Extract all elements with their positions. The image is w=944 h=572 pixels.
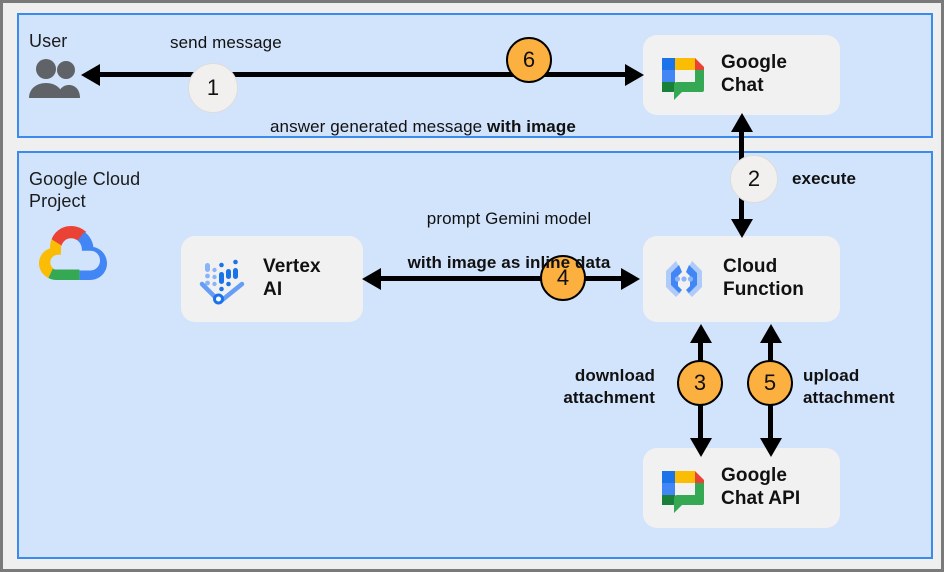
node-label-google-chat-api: Google Chat API — [721, 465, 800, 511]
step-badge-1: 1 — [188, 63, 238, 113]
user-panel-title: User — [29, 31, 67, 53]
node-google-chat[interactable]: Google Chat — [643, 35, 840, 115]
node-label-google-chat: Google Chat — [721, 52, 787, 98]
step-badge-2: 2 — [730, 155, 778, 203]
edge-label-upload-attachment: upload attachment — [803, 365, 944, 409]
edge-label-execute: execute — [792, 168, 856, 190]
google-cloud-project-title: Google Cloud Project — [29, 169, 140, 213]
vertex-ai-icon — [195, 251, 251, 307]
edge-label-send-message: send message — [170, 32, 282, 54]
step-badge-3: 3 — [677, 360, 723, 406]
edge-chat-function-arrow-up — [731, 113, 753, 132]
step-badge-5: 5 — [747, 360, 793, 406]
edge-vertex-function-arrow-left — [362, 268, 381, 290]
edge-label-download-attachment: download attachment — [465, 365, 655, 409]
edge-upload-arrow-down — [760, 438, 782, 457]
diagram-canvas: User Google Cloud Project — [0, 0, 944, 572]
google-cloud-icon — [35, 222, 107, 282]
people-icon — [25, 57, 83, 101]
edge-user-chat-line — [98, 72, 638, 77]
prompt-gemini-bold-text: with image as inline data — [383, 252, 635, 274]
node-label-cloud-function: Cloud Function — [723, 256, 804, 302]
edge-upload-arrow-up — [760, 324, 782, 343]
node-google-chat-api[interactable]: Google Chat API — [643, 448, 840, 528]
google-chat-icon — [657, 462, 709, 514]
answer-generated-regular-text: answer generated message — [270, 117, 487, 136]
edge-download-arrow-up — [690, 324, 712, 343]
node-cloud-function[interactable]: Cloud Function — [643, 236, 840, 322]
edge-label-prompt-gemini: prompt Gemini model with image as inline… — [383, 186, 635, 296]
prompt-gemini-regular-text: prompt Gemini model — [383, 208, 635, 230]
edge-label-answer-generated: answer generated message with image — [270, 94, 576, 138]
edge-download-arrow-down — [690, 438, 712, 457]
answer-generated-bold-text: with image — [487, 117, 576, 136]
step-badge-6: 6 — [506, 37, 552, 83]
google-chat-icon — [657, 49, 709, 101]
edge-chat-function-arrow-down — [731, 219, 753, 238]
edge-user-chat-arrow-right — [625, 64, 644, 86]
node-label-vertex-ai: Vertex AI — [263, 256, 321, 302]
node-vertex-ai[interactable]: Vertex AI — [181, 236, 363, 322]
edge-user-chat-arrow-left — [81, 64, 100, 86]
cloud-function-icon — [657, 252, 711, 306]
